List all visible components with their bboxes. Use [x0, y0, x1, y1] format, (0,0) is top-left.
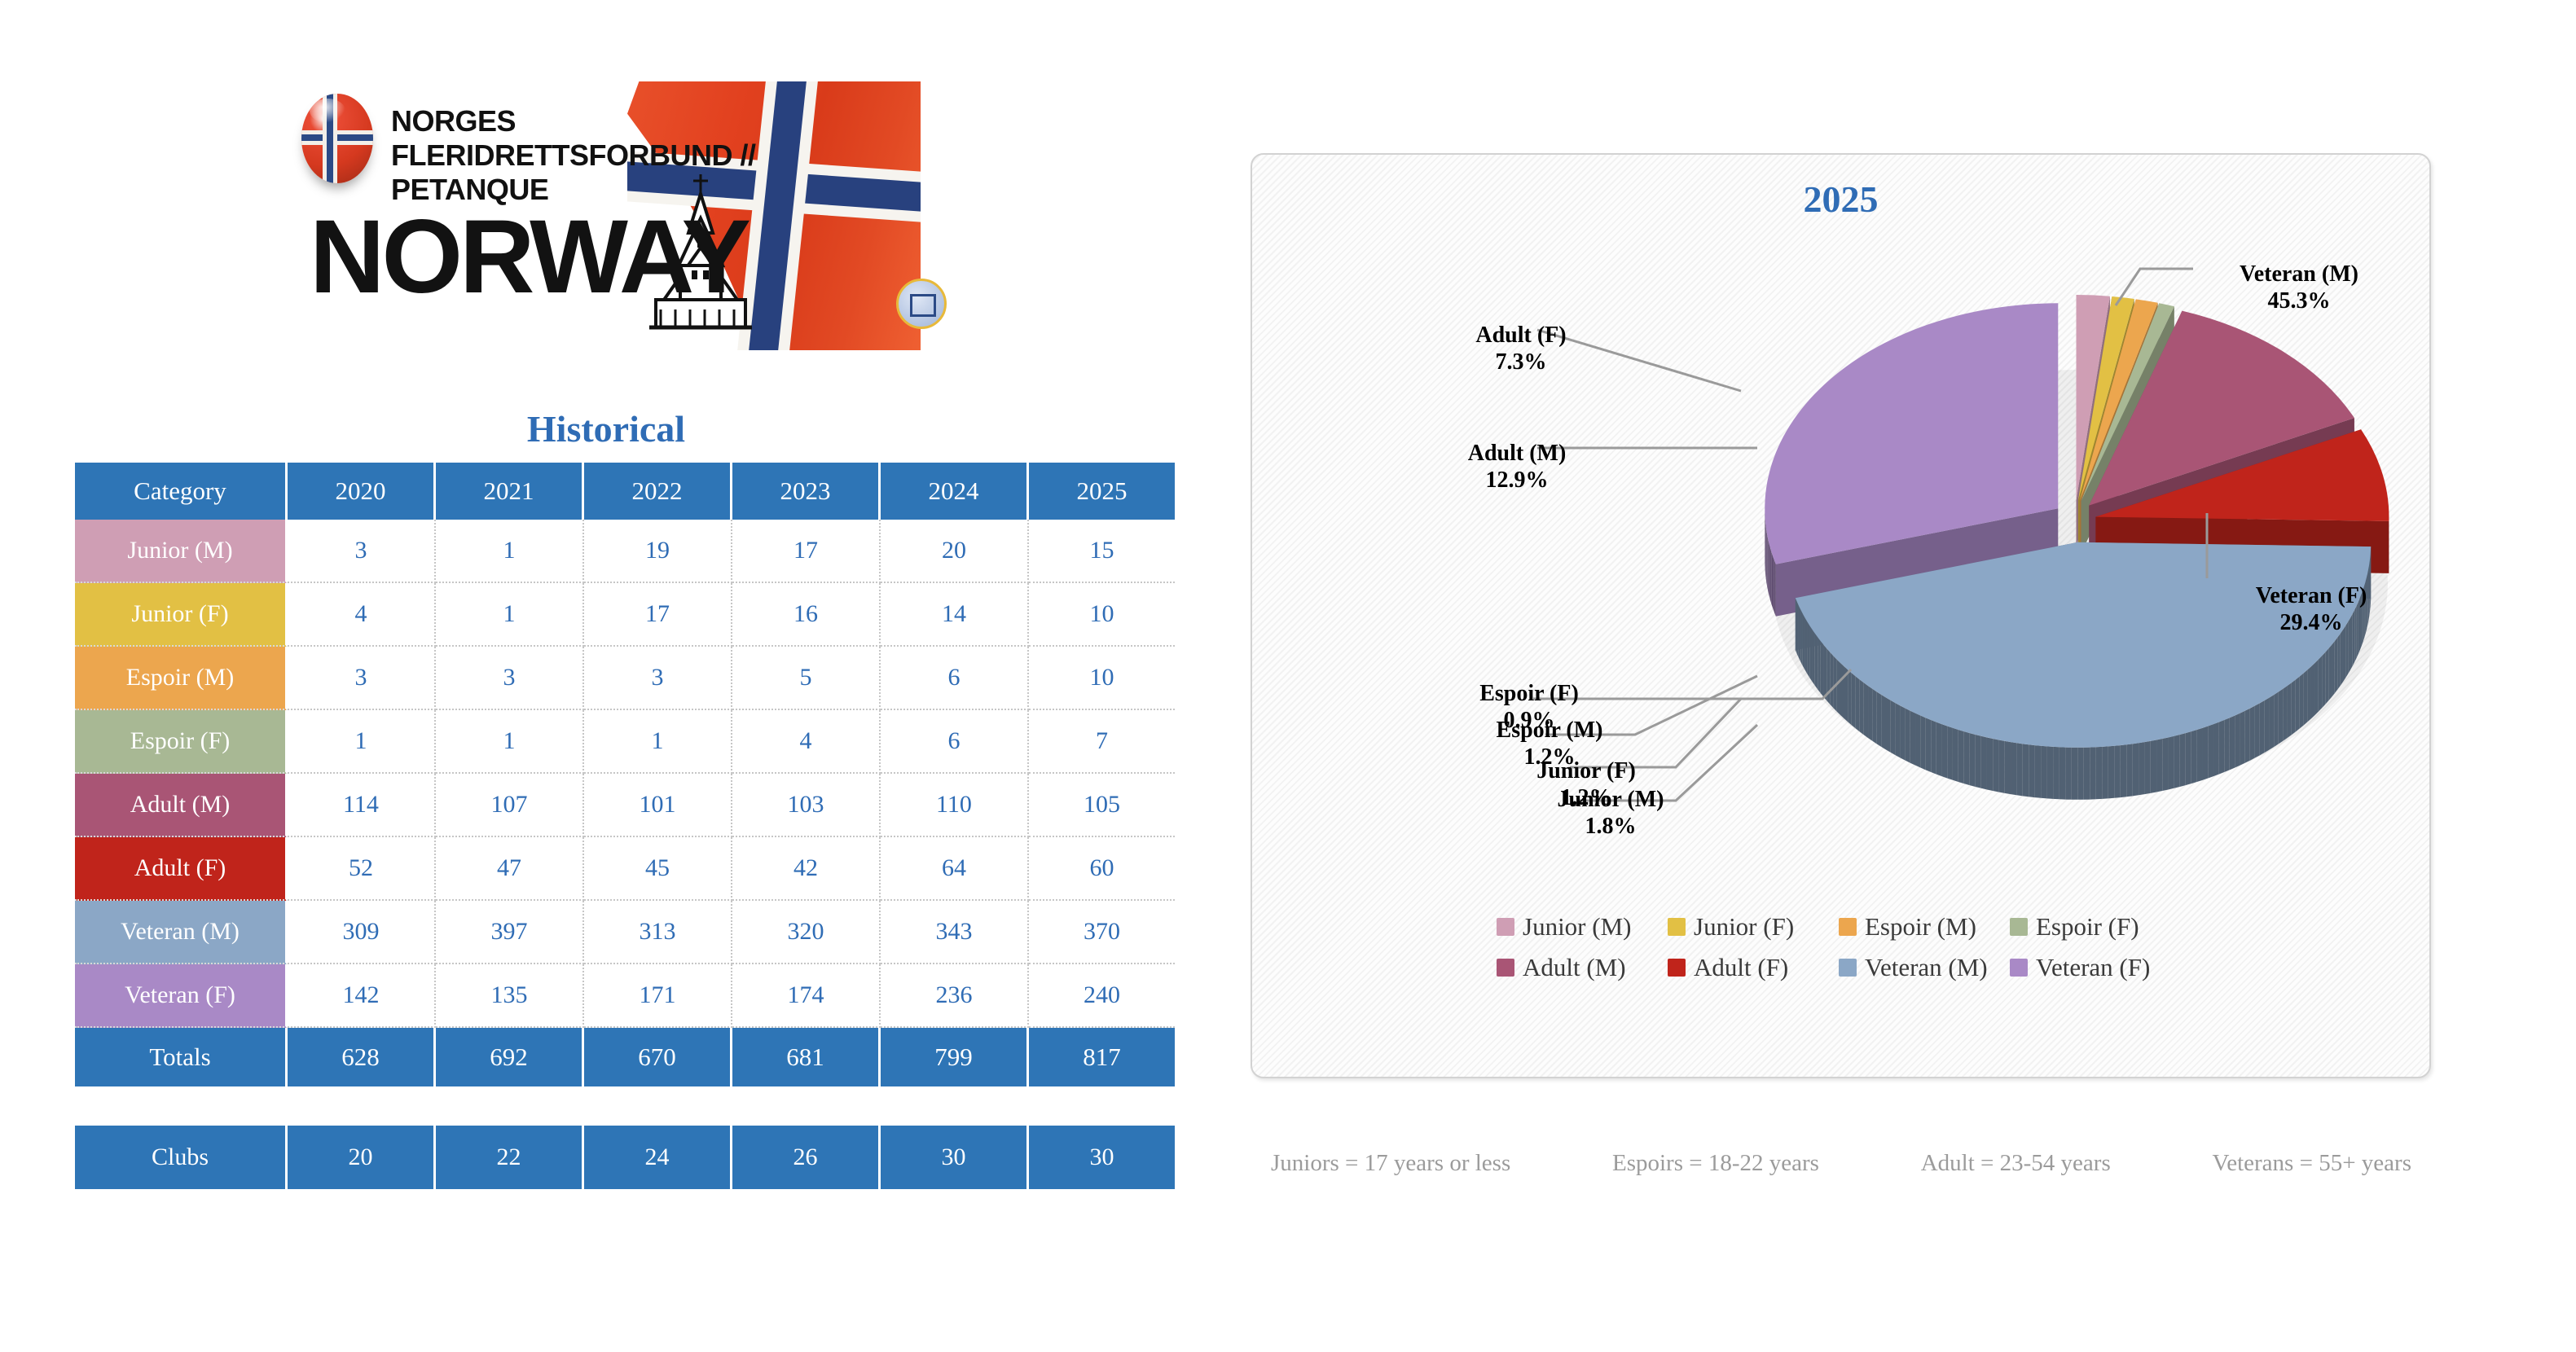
totals-value: 628: [288, 1028, 436, 1086]
cell-value: 110: [881, 774, 1029, 837]
row-category-label: Veteran (F): [75, 964, 288, 1028]
legend-item-adult-f[interactable]: Adult (F): [1668, 953, 1839, 982]
cell-value: 174: [732, 964, 881, 1028]
cell-value: 1: [436, 583, 584, 647]
footnote-juniors: Juniors = 17 years or less: [1271, 1150, 1510, 1177]
cell-value: 397: [436, 901, 584, 964]
cell-value: 45: [584, 837, 732, 901]
legend-label-junior-f: Junior (F): [1694, 912, 1794, 942]
cell-value: 3: [584, 647, 732, 710]
legend-label-veteran-m: Veteran (M): [1865, 953, 1988, 982]
certification-seal-icon: [896, 279, 947, 329]
totals-value: 817: [1029, 1028, 1175, 1086]
row-category-label: Adult (F): [75, 837, 288, 901]
row-category-label: Junior (F): [75, 583, 288, 647]
cell-value: 1: [288, 710, 436, 774]
legend-label-adult-f: Adult (F): [1694, 953, 1788, 982]
legend-label-adult-m: Adult (M): [1523, 953, 1626, 982]
chart-legend: Junior (M) Junior (F) Espoir (M) Espoir …: [1497, 912, 2189, 994]
cell-value: 309: [288, 901, 436, 964]
legend-label-espoir-m: Espoir (M): [1865, 912, 1976, 942]
legend-item-junior-m[interactable]: Junior (M): [1497, 912, 1668, 942]
table-row: Adult (M)114107101103110105: [75, 774, 1175, 837]
table-row: Veteran (F)142135171174236240: [75, 964, 1175, 1028]
cell-value: 47: [436, 837, 584, 901]
age-category-footnotes: Juniors = 17 years or less Espoirs = 18-…: [1271, 1150, 2411, 1177]
clubs-value-2020: 20: [288, 1126, 436, 1189]
clubs-row: Clubs 20 22 24 26 30 30: [75, 1126, 1175, 1189]
cell-value: 114: [288, 774, 436, 837]
legend-row-bottom: Adult (M) Adult (F) Veteran (M) Veteran …: [1497, 953, 2189, 982]
pie-label-espoir-f: Espoir (F)0.9%: [1440, 680, 1619, 734]
column-header-2024: 2024: [881, 463, 1029, 520]
cell-value: 1: [584, 710, 732, 774]
pie-chart-panel: 2025 Junior (M)1.8%Junior (F)1.2%Espoir …: [1251, 153, 2431, 1078]
legend-row-top: Junior (M) Junior (F) Espoir (M) Espoir …: [1497, 912, 2189, 942]
row-category-label: Adult (M): [75, 774, 288, 837]
table-row: Junior (M)3119172015: [75, 520, 1175, 583]
cell-value: 1: [436, 710, 584, 774]
cell-value: 370: [1029, 901, 1175, 964]
column-header-2022: 2022: [584, 463, 732, 520]
cell-value: 19: [584, 520, 732, 583]
cell-value: 240: [1029, 964, 1175, 1028]
cell-value: 142: [288, 964, 436, 1028]
cell-value: 7: [1029, 710, 1175, 774]
legend-swatch-espoir-f: [2010, 918, 2028, 936]
table-row: Espoir (M)3335610: [75, 647, 1175, 710]
cell-value: 17: [732, 520, 881, 583]
cell-value: 105: [1029, 774, 1175, 837]
row-category-label: Veteran (M): [75, 901, 288, 964]
legend-swatch-adult-f: [1668, 959, 1686, 977]
legend-label-junior-m: Junior (M): [1523, 912, 1631, 942]
cell-value: 135: [436, 964, 584, 1028]
cell-value: 171: [584, 964, 732, 1028]
table-row: Veteran (M)309397313320343370: [75, 901, 1175, 964]
legend-swatch-espoir-m: [1839, 918, 1857, 936]
row-category-label: Espoir (M): [75, 647, 288, 710]
cell-value: 107: [436, 774, 584, 837]
legend-item-adult-m[interactable]: Adult (M): [1497, 953, 1668, 982]
column-header-2021: 2021: [436, 463, 584, 520]
clubs-value-2025: 30: [1029, 1126, 1175, 1189]
cell-value: 10: [1029, 647, 1175, 710]
petanque-ball-flag-icon: [301, 94, 373, 183]
cell-value: 42: [732, 837, 881, 901]
clubs-value-2021: 22: [436, 1126, 584, 1189]
legend-label-espoir-f: Espoir (F): [2036, 912, 2139, 942]
legend-swatch-adult-m: [1497, 959, 1514, 977]
pie-label-veteran-m: Veteran (M)45.3%: [2197, 261, 2401, 314]
footnote-espoirs: Espoirs = 18-22 years: [1612, 1150, 1819, 1177]
historical-section-title: Historical: [68, 407, 1144, 450]
column-header-2025: 2025: [1029, 463, 1175, 520]
cell-value: 103: [732, 774, 881, 837]
clubs-label: Clubs: [75, 1126, 288, 1189]
cell-value: 3: [288, 520, 436, 583]
totals-value: 692: [436, 1028, 584, 1086]
country-title: NORWAY: [310, 205, 748, 309]
cell-value: 4: [732, 710, 881, 774]
cell-value: 52: [288, 837, 436, 901]
cell-value: 5: [732, 647, 881, 710]
cell-value: 343: [881, 901, 1029, 964]
clubs-value-2024: 30: [881, 1126, 1029, 1189]
table-header-row: Category 2020 2021 2022 2023 2024 2025: [75, 463, 1175, 520]
cell-value: 313: [584, 901, 732, 964]
cell-value: 1: [436, 520, 584, 583]
table-row: Junior (F)4117161410: [75, 583, 1175, 647]
cell-value: 3: [436, 647, 584, 710]
column-header-2023: 2023: [732, 463, 881, 520]
totals-value: 681: [732, 1028, 881, 1086]
footnote-adult: Adult = 23-54 years: [1921, 1150, 2111, 1177]
table-row: Adult (F)524745426460: [75, 837, 1175, 901]
cell-value: 6: [881, 710, 1029, 774]
pie-label-adult-f: Adult (F)7.3%: [1431, 322, 1611, 375]
cell-value: 14: [881, 583, 1029, 647]
cell-value: 17: [584, 583, 732, 647]
cell-value: 20: [881, 520, 1029, 583]
row-category-label: Espoir (F): [75, 710, 288, 774]
cell-value: 6: [881, 647, 1029, 710]
legend-item-veteran-f[interactable]: Veteran (F): [2010, 953, 2181, 982]
cell-value: 236: [881, 964, 1029, 1028]
totals-value: 670: [584, 1028, 732, 1086]
legend-swatch-veteran-f: [2010, 959, 2028, 977]
totals-row: Totals628692670681799817: [75, 1028, 1175, 1086]
row-category-label: Junior (M): [75, 520, 288, 583]
pie-label-adult-m: Adult (M)12.9%: [1427, 440, 1607, 494]
clubs-table: Clubs 20 22 24 26 30 30: [75, 1126, 1175, 1189]
cell-value: 3: [288, 647, 436, 710]
cell-value: 320: [732, 901, 881, 964]
totals-value: 799: [881, 1028, 1029, 1086]
pie-label-veteran-f: Veteran (F)29.4%: [2209, 582, 2413, 636]
legend-swatch-junior-f: [1668, 918, 1686, 936]
legend-item-junior-f[interactable]: Junior (F): [1668, 912, 1839, 942]
cell-value: 4: [288, 583, 436, 647]
legend-item-espoir-m[interactable]: Espoir (M): [1839, 912, 2010, 942]
organization-logo: NORGES FLERIDRETTSFORBUND // PETANQUE NO…: [301, 65, 953, 375]
legend-item-veteran-m[interactable]: Veteran (M): [1839, 953, 2010, 982]
cell-value: 101: [584, 774, 732, 837]
cell-value: 16: [732, 583, 881, 647]
footnote-veterans: Veterans = 55+ years: [2213, 1150, 2412, 1177]
legend-swatch-junior-m: [1497, 918, 1514, 936]
historical-table: Category 2020 2021 2022 2023 2024 2025 J…: [75, 463, 1175, 1086]
cell-value: 15: [1029, 520, 1175, 583]
cell-value: 60: [1029, 837, 1175, 901]
column-header-2020: 2020: [288, 463, 436, 520]
legend-swatch-veteran-m: [1839, 959, 1857, 977]
clubs-value-2022: 24: [584, 1126, 732, 1189]
totals-label: Totals: [75, 1028, 288, 1086]
cell-value: 64: [881, 837, 1029, 901]
legend-label-veteran-f: Veteran (F): [2036, 953, 2150, 982]
table-row: Espoir (F)111467: [75, 710, 1175, 774]
pie-chart: Junior (M)1.8%Junior (F)1.2%Espoir (M)1.…: [1252, 155, 2429, 928]
cell-value: 10: [1029, 583, 1175, 647]
column-header-category: Category: [75, 463, 288, 520]
legend-item-espoir-f[interactable]: Espoir (F): [2010, 912, 2181, 942]
clubs-value-2023: 26: [732, 1126, 881, 1189]
